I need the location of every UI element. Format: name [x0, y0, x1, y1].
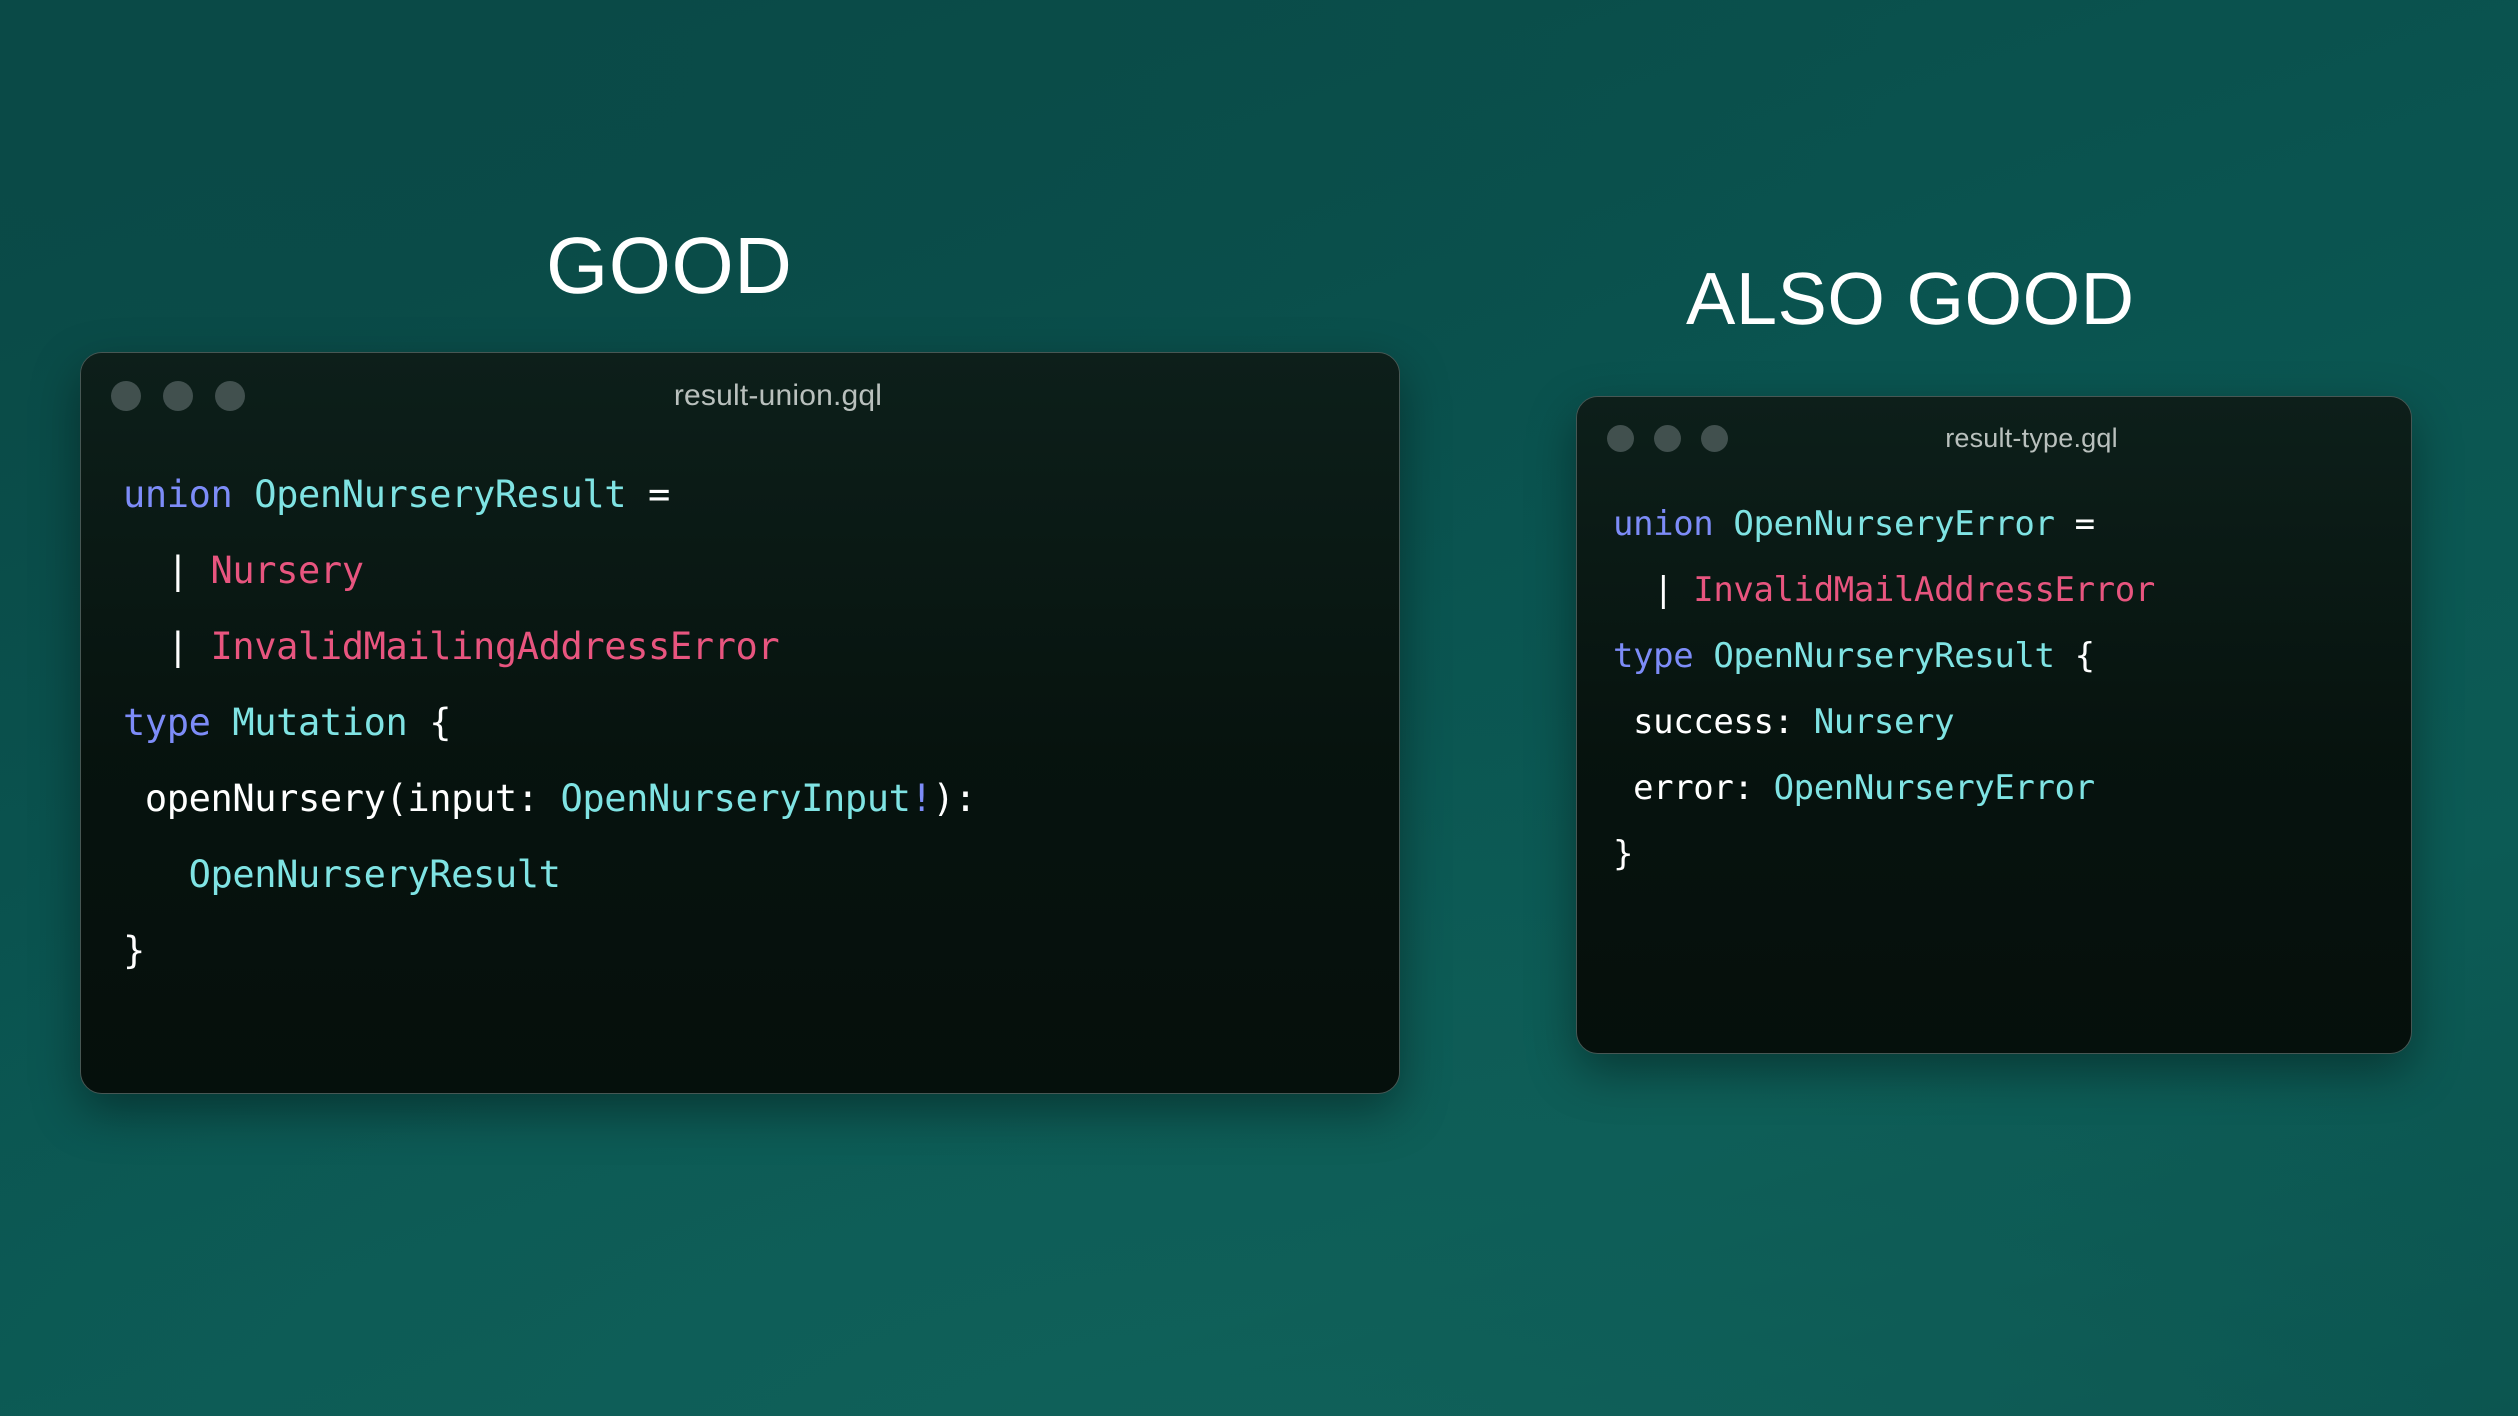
code-token-punct: } [1613, 834, 1633, 874]
code-token-punct: | [123, 625, 211, 668]
code-token-non-null: ! [911, 777, 933, 820]
code-token-type: OpenNurseryError [1774, 768, 2095, 808]
code-token-type: OpenNurseryResult [254, 473, 648, 516]
code-line: success: Nursery [1613, 689, 2375, 755]
code-token-type: Nursery [1814, 702, 1955, 742]
code-window-result-type: result-type.gql union OpenNurseryError =… [1576, 396, 2412, 1054]
code-token-indent [123, 853, 189, 896]
code-block-result-union: union OpenNurseryResult = | Nursery | In… [81, 439, 1399, 989]
code-token-punct: | [123, 549, 211, 592]
window-titlebar: result-union.gql [81, 353, 1399, 439]
code-line: union OpenNurseryResult = [123, 457, 1359, 533]
code-token-type: OpenNurseryError [1733, 504, 2074, 544]
code-token-error-type: InvalidMailingAddressError [211, 625, 780, 668]
code-token-keyword: union [1613, 504, 1733, 544]
code-token-punct: = [2075, 504, 2095, 544]
code-token-field: error: [1613, 768, 1774, 808]
window-filename: result-union.gql [185, 379, 1371, 413]
code-line: } [123, 913, 1359, 989]
code-line: type OpenNurseryResult { [1613, 623, 2375, 689]
code-line: | Nursery [123, 533, 1359, 609]
code-window-result-union: result-union.gql union OpenNurseryResult… [80, 352, 1400, 1094]
code-token-punct: = [648, 473, 670, 516]
code-token-punct: { [429, 701, 451, 744]
close-dot-icon[interactable] [111, 381, 141, 411]
code-token-punct: ): [932, 777, 976, 820]
code-token-type: Mutation [232, 701, 429, 744]
slide-canvas: GOOD result-union.gql union OpenNurseryR… [0, 0, 2518, 1416]
code-token-type: OpenNurseryResult [189, 853, 561, 896]
code-token-punct: | [1613, 570, 1693, 610]
code-token-field: openNursery(input: [123, 777, 561, 820]
code-token-type: OpenNurseryInput [561, 777, 911, 820]
window-filename: result-type.gql [1680, 423, 2383, 454]
minimize-dot-icon[interactable] [1654, 425, 1681, 452]
code-line: error: OpenNurseryError [1613, 755, 2375, 821]
code-token-punct: { [2075, 636, 2095, 676]
code-block-result-type: union OpenNurseryError = | InvalidMailAd… [1577, 479, 2411, 887]
code-token-keyword: type [1613, 636, 1713, 676]
code-token-type: OpenNurseryResult [1713, 636, 2074, 676]
close-dot-icon[interactable] [1607, 425, 1634, 452]
code-line: type Mutation { [123, 685, 1359, 761]
code-token-keyword: type [123, 701, 232, 744]
panel-heading-good: GOOD [546, 226, 792, 306]
code-token-keyword: union [123, 473, 254, 516]
code-line: | InvalidMailingAddressError [123, 609, 1359, 685]
code-token-error-type: Nursery [211, 549, 364, 592]
code-line: openNursery(input: OpenNurseryInput!): [123, 761, 1359, 837]
code-line: } [1613, 821, 2375, 887]
panel-heading-also-good: ALSO GOOD [1686, 262, 2135, 336]
code-token-field: success: [1613, 702, 1814, 742]
code-line: OpenNurseryResult [123, 837, 1359, 913]
code-line: union OpenNurseryError = [1613, 491, 2375, 557]
code-line: | InvalidMailAddressError [1613, 557, 2375, 623]
code-token-error-type: InvalidMailAddressError [1693, 570, 2155, 610]
code-token-punct: } [123, 929, 145, 972]
window-titlebar: result-type.gql [1577, 397, 2411, 479]
